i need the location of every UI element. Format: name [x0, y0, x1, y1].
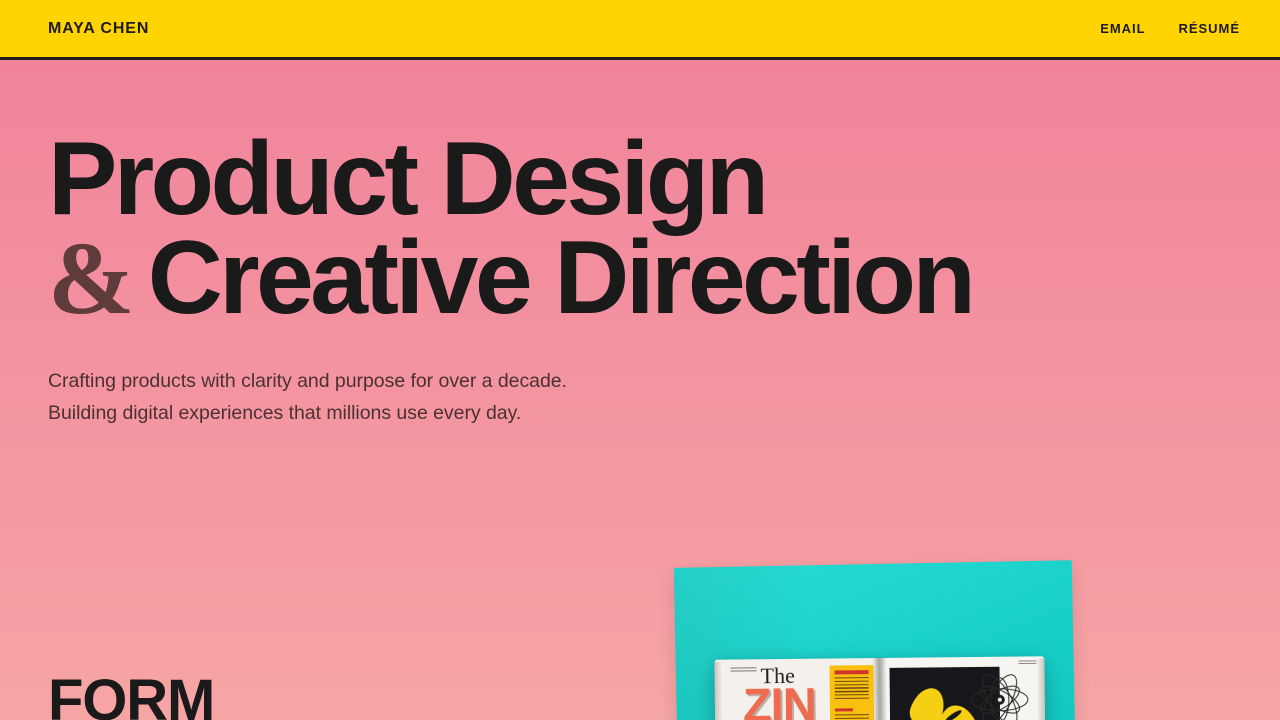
brand-logo[interactable]: MAYA CHEN — [48, 20, 149, 38]
page-edge-left — [714, 662, 722, 720]
nav-link-resume[interactable]: RÉSUMÉ — [1179, 21, 1240, 36]
ampersand-glyph: & — [48, 221, 148, 336]
sidebar-text-lines — [835, 677, 869, 701]
sidebar-text-lines-2 — [835, 714, 869, 720]
sidebar-heading-bar-2 — [835, 708, 853, 711]
page-edge-right — [1037, 658, 1045, 720]
nav-link-email[interactable]: EMAIL — [1100, 21, 1145, 36]
book-page-left: The ZIN — [714, 658, 880, 720]
hero-title-line-2-text: Creative Direction — [148, 220, 973, 336]
hero-section: Product Design &Creative Direction Craft… — [0, 60, 1280, 429]
hero-subtitle: Crafting products with clarity and purpo… — [48, 365, 1232, 430]
hero-title-line-1: Product Design — [48, 130, 1232, 229]
main-nav: EMAIL RÉSUMÉ — [1100, 21, 1240, 36]
book-gutter-shadow — [872, 658, 887, 720]
book-page-right — [879, 656, 1045, 720]
hero-subtitle-line-1: Crafting products with clarity and purpo… — [48, 365, 1232, 397]
page-title: Product Design &Creative Direction — [48, 130, 1232, 329]
hero-subtitle-line-2: Building digital experiences that millio… — [48, 397, 1232, 429]
hero-title-line-2: &Creative Direction — [48, 229, 1232, 329]
magazine-title-text: ZIN — [743, 685, 816, 720]
site-header: MAYA CHEN EMAIL RÉSUMÉ — [0, 0, 1280, 60]
kicker-text-lines — [730, 667, 756, 673]
magazine-spread-image: The ZIN — [660, 550, 1090, 720]
page-number-lines — [1018, 660, 1036, 665]
section-heading-form: FORM — [48, 672, 214, 720]
yellow-sidebar-column — [829, 665, 874, 720]
sidebar-heading-bar — [835, 670, 869, 674]
open-book: The ZIN — [714, 656, 1045, 720]
atom-diagram-icon — [969, 670, 1032, 720]
